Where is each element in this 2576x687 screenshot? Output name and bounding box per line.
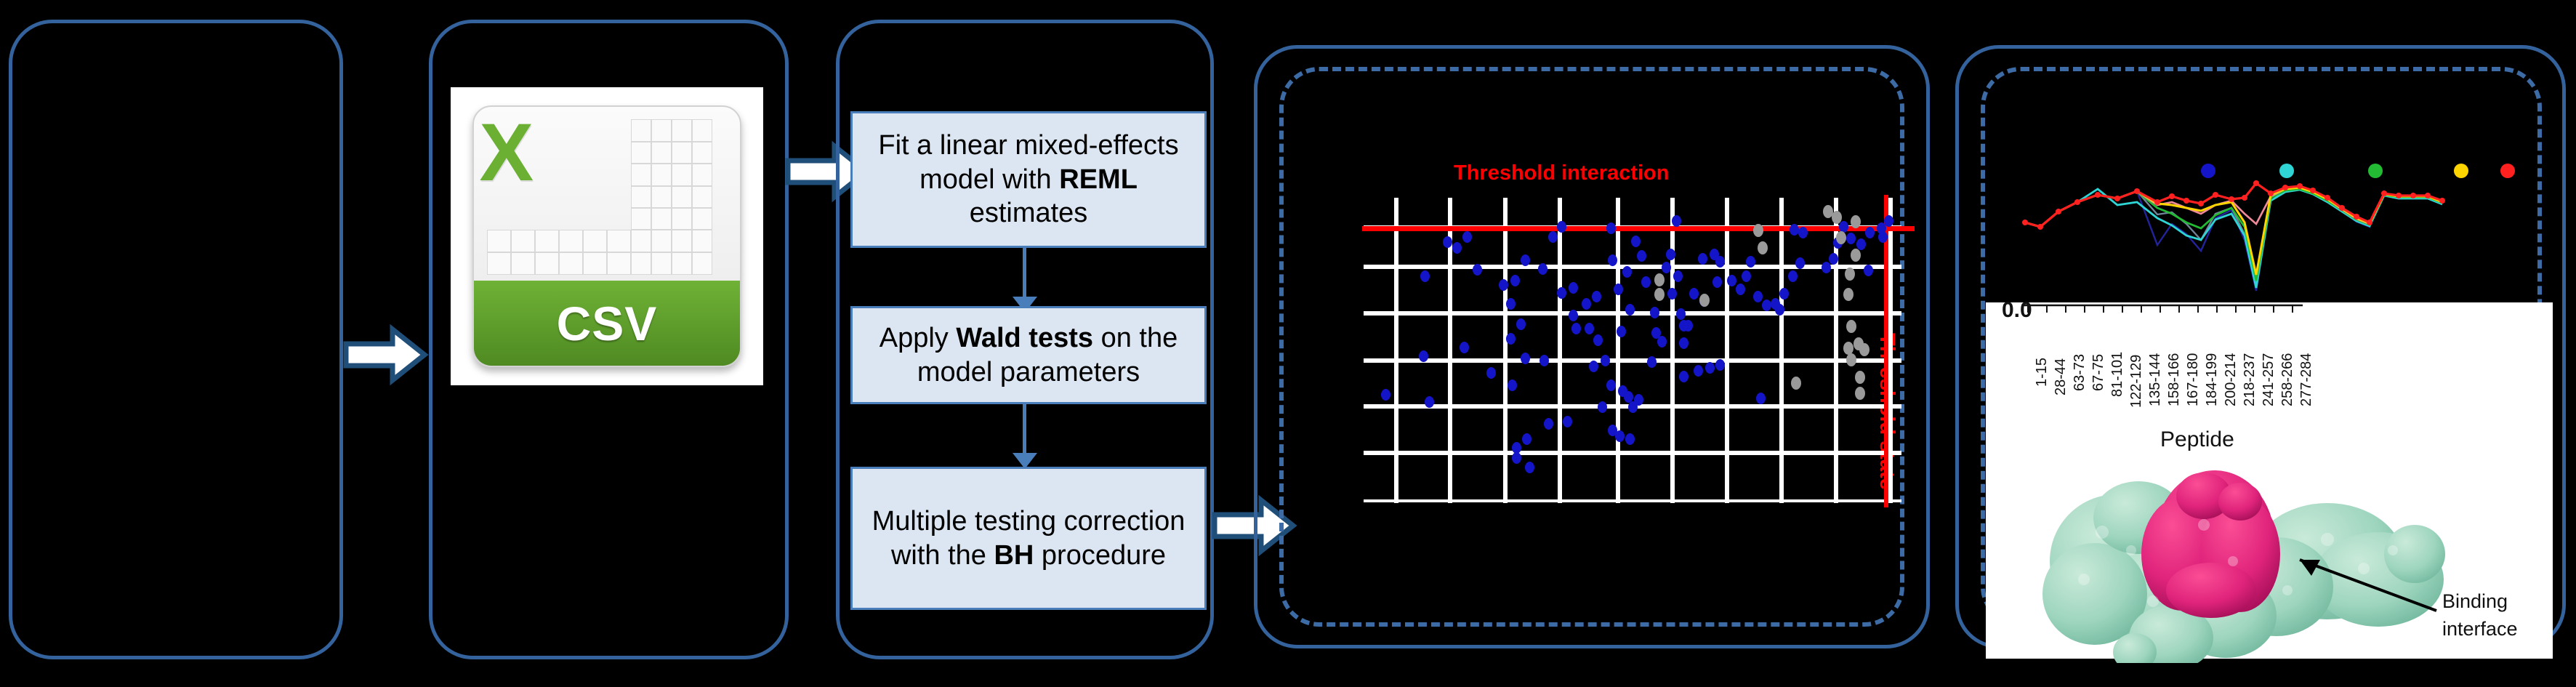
x-tick-3: 67-75 bbox=[2090, 354, 2107, 391]
binding-interface-callout-line1: Binding bbox=[2442, 590, 2508, 613]
step1-bold: REML bbox=[1059, 164, 1138, 195]
step2-bold: Wald tests bbox=[956, 323, 1093, 353]
step2-pre: Apply bbox=[880, 323, 957, 353]
threshold-interaction-line bbox=[1362, 226, 1915, 231]
x-tick-8: 167-180 bbox=[2185, 353, 2202, 406]
step3-bold: BH bbox=[994, 540, 1034, 571]
step-box-reml: Fit a linear mixed-effects model with RE… bbox=[850, 111, 1207, 248]
peptide-series-lines bbox=[1992, 138, 2544, 305]
x-tick-14: 277-284 bbox=[2298, 353, 2315, 406]
x-tick-4: 81-101 bbox=[2109, 352, 2126, 397]
peptide-x-axis bbox=[1986, 302, 2553, 321]
x-tick-7: 158-166 bbox=[2166, 353, 2183, 406]
csv-file-icon: X CSV bbox=[451, 87, 763, 385]
step-box-bh: Multiple testing correction with the BH … bbox=[850, 467, 1207, 610]
threshold-interaction-label: Threshold interaction bbox=[1454, 161, 1669, 185]
step-box-wald: Apply Wald tests on the model parameters bbox=[850, 306, 1207, 404]
x-tick-1: 28-44 bbox=[2053, 358, 2069, 395]
connector-2 bbox=[1023, 404, 1026, 457]
csv-badge: X CSV bbox=[472, 105, 741, 368]
protein-structure-image: Binding interface bbox=[1986, 445, 2553, 663]
x-tick-12: 241-257 bbox=[2261, 353, 2277, 406]
binding-interface-callout-line2: interface bbox=[2442, 618, 2518, 640]
csv-label-strip: CSV bbox=[474, 281, 740, 366]
step3-post: procedure bbox=[1034, 540, 1166, 571]
connector-1 bbox=[1023, 248, 1026, 300]
x-tick-11: 218-237 bbox=[2242, 353, 2258, 406]
csv-label: CSV bbox=[557, 296, 658, 351]
excel-x-glyph: X bbox=[479, 112, 534, 193]
step1-post: estimates bbox=[970, 198, 1088, 228]
x-tick-10: 200-214 bbox=[2223, 353, 2239, 406]
arrow-into-csv bbox=[342, 324, 429, 386]
y-tick-zero: 0.0 bbox=[2002, 298, 2032, 323]
x-tick-13: 258-266 bbox=[2279, 353, 2296, 406]
panel-samples bbox=[9, 20, 343, 659]
x-tick-2: 63-73 bbox=[2072, 354, 2088, 391]
peptide-axis-card: 0.0 1-15 28-44 63-73 67-75 81-101 122-12… bbox=[1986, 302, 2553, 659]
x-tick-6: 135-144 bbox=[2147, 353, 2164, 406]
flowchart-canvas: X CSV Fit a linear mixed-effects model w… bbox=[0, 0, 2576, 687]
x-tick-9: 184-199 bbox=[2204, 353, 2221, 406]
x-tick-5: 122-129 bbox=[2128, 355, 2145, 408]
scatter-plot: Threshold interaction Threshold state bbox=[1337, 145, 1919, 509]
x-tick-0: 1-15 bbox=[2034, 358, 2050, 387]
